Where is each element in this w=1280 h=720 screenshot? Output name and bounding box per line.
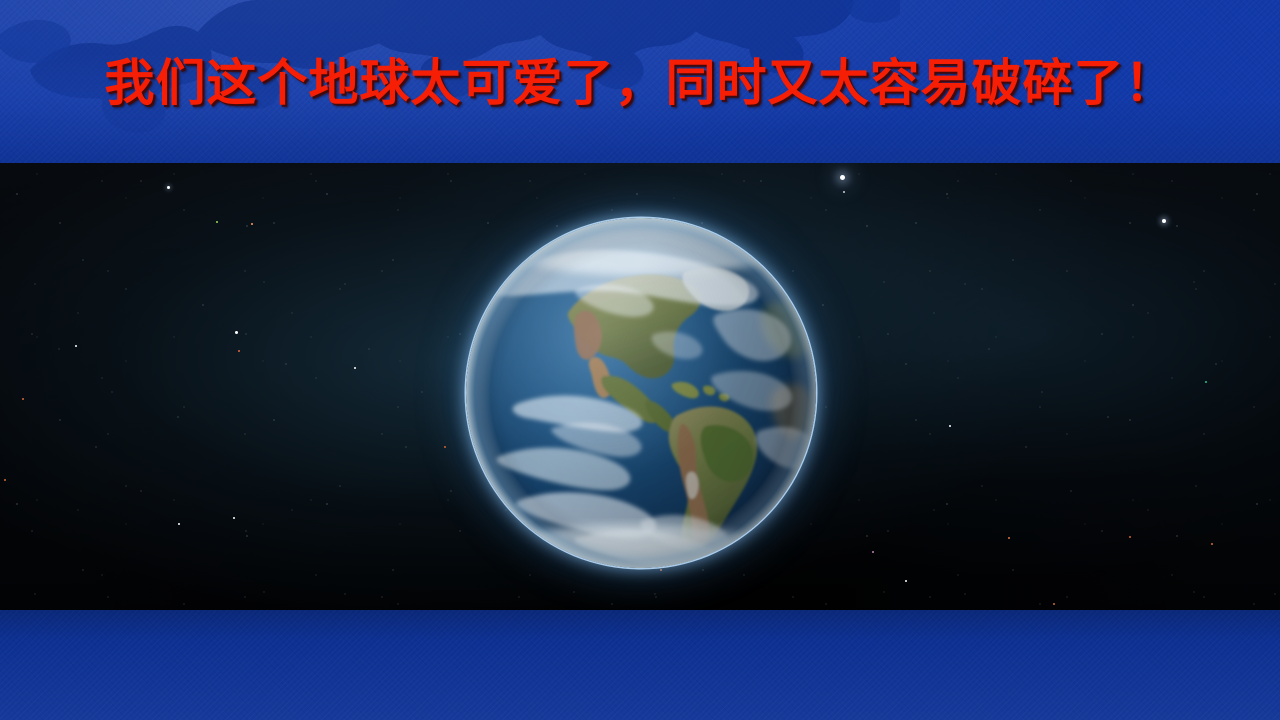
star [4,479,6,481]
star [1162,219,1166,223]
star [233,517,235,519]
star [178,523,180,525]
earth-globe [466,218,816,568]
bright-star [840,175,845,180]
star [949,425,951,427]
star [1053,603,1055,605]
star [1008,537,1010,539]
star [235,331,238,334]
footer-band-shading [0,610,1280,720]
star [75,345,77,347]
star [872,551,874,553]
star [22,398,24,400]
star [167,186,170,189]
star [1129,536,1131,538]
star [905,580,907,582]
star [216,221,218,223]
star [1211,543,1213,545]
star [251,223,253,225]
earth-sphere [466,218,816,568]
earth-from-space-photo [0,163,1280,610]
star [1205,381,1207,383]
presentation-slide: 我们这个地球太可爱了，同时又太容易破碎了！ [0,0,1280,720]
star [843,191,845,193]
slide-title: 我们这个地球太可爱了，同时又太容易破碎了！ [0,52,1280,114]
star [354,367,356,369]
earth-limb-highlight [466,218,816,568]
star [238,350,240,352]
